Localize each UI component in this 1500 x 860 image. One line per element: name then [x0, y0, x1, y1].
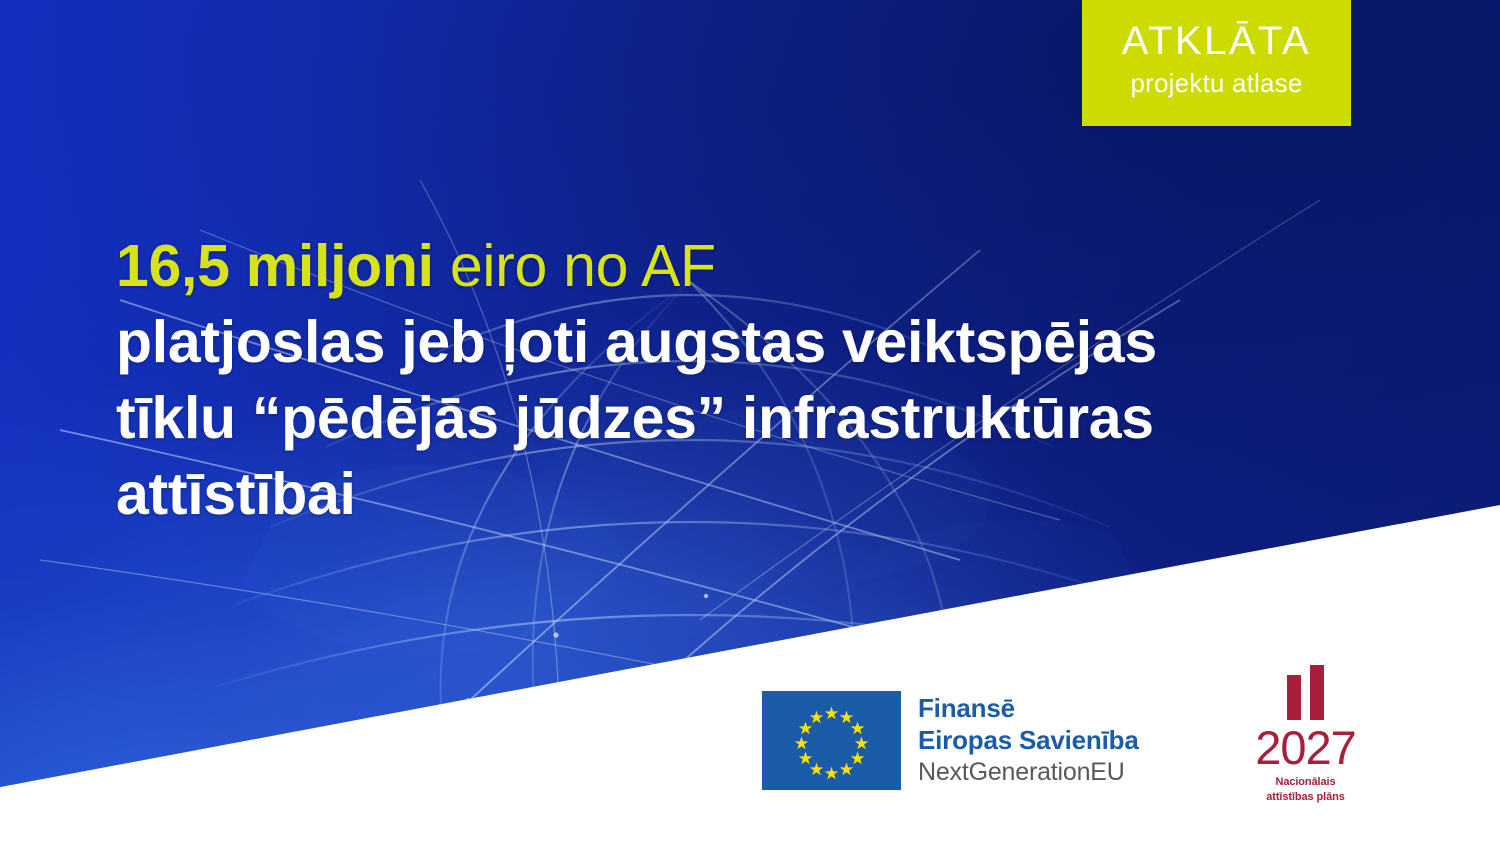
nap-subtitle-line-2: attīstības plāns — [1243, 790, 1368, 804]
eu-logo-line-2: Eiropas Savienība — [918, 724, 1139, 756]
nap-year: 2027 — [1243, 722, 1368, 774]
nap-bar-tall — [1310, 665, 1324, 720]
eu-logo-line-1: Finansē — [918, 692, 1139, 724]
eu-logo-text: Finansē Eiropas Savienība NextGeneration… — [918, 691, 1139, 789]
badge-title: ATKLĀTA — [1082, 16, 1351, 66]
nap-bars-icon — [1243, 665, 1368, 720]
promo-banner: ATKLĀTA projektu atlase 16,5 miljoni eir… — [0, 0, 1500, 860]
eu-logo-line-3: NextGenerationEU — [918, 756, 1139, 789]
headline-amount: 16,5 miljoni — [116, 233, 434, 299]
headline-block: 16,5 miljoni eiro no AF platjoslas jeb ļ… — [116, 228, 1376, 532]
headline-line-1: 16,5 miljoni eiro no AF — [116, 228, 1376, 304]
nap-subtitle-line-1: Nacionālais — [1243, 775, 1368, 789]
badge-open-call: ATKLĀTA projektu atlase — [1082, 0, 1351, 126]
nap-2027-logo: 2027 Nacionālais attīstības plāns — [1243, 665, 1368, 804]
eu-funding-logo: Finansē Eiropas Savienība NextGeneration… — [762, 691, 1139, 790]
badge-subtitle: projektu atlase — [1082, 66, 1351, 100]
headline-line-4: attīstībai — [116, 456, 1376, 532]
headline-line-1-rest: eiro no AF — [434, 233, 716, 299]
nap-bar-short — [1287, 675, 1301, 720]
headline-line-3: tīklu “pēdējās jūdzes” infrastruktūras — [116, 380, 1376, 456]
eu-flag-icon — [762, 691, 901, 790]
headline-line-2: platjoslas jeb ļoti augstas veiktspējas — [116, 304, 1376, 380]
